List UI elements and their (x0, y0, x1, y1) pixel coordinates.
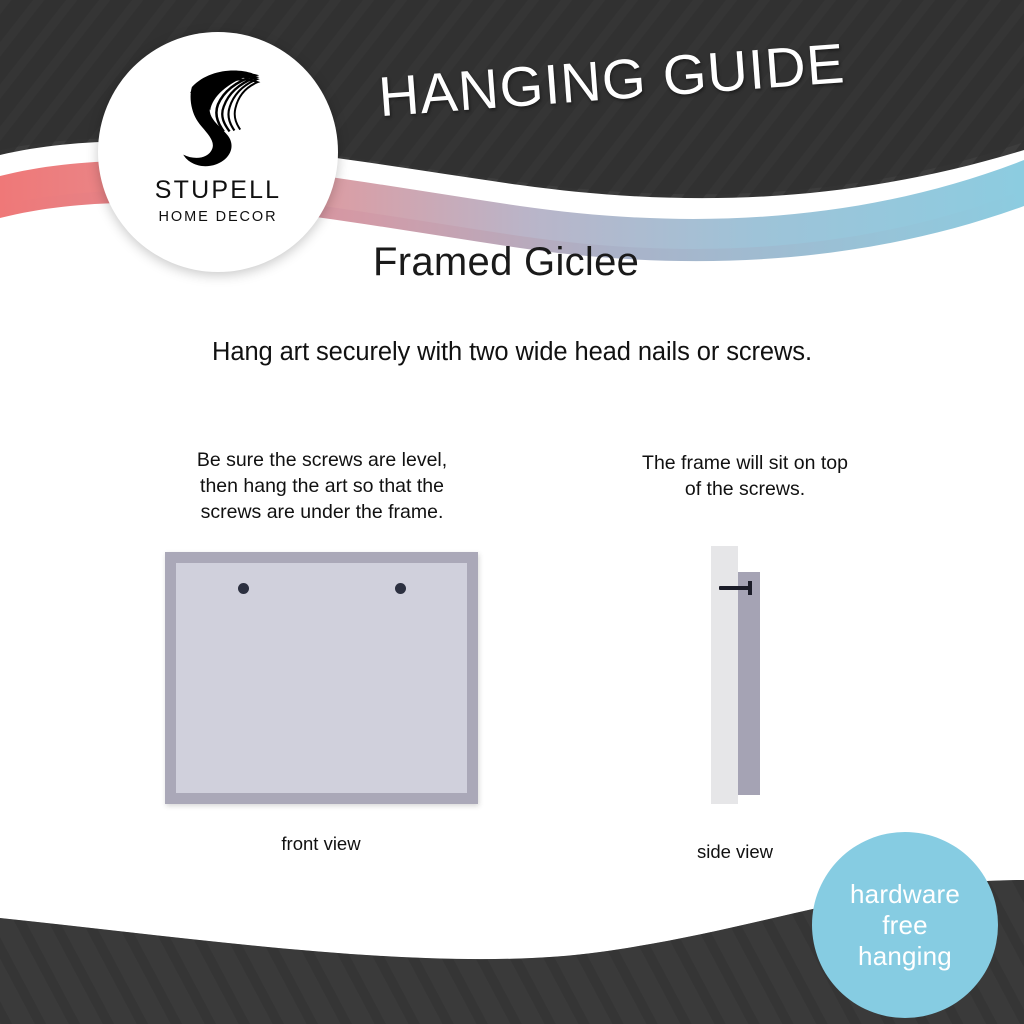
front-view-frame-diagram (165, 552, 478, 804)
front-view-label: front view (171, 833, 471, 855)
front-caption-line-3: screws are under the frame. (152, 499, 492, 525)
side-caption-line-2: of the screws. (595, 476, 895, 502)
side-view-caption: The frame will sit on top of the screws. (595, 450, 895, 502)
logo-brand-name: STUPELL (155, 178, 282, 203)
hanging-guide-infographic: HANGING GUIDE STUPELL HOME DECOR Framed … (0, 0, 1024, 1024)
hardware-free-hanging-badge: hardware free hanging (812, 832, 998, 1018)
badge-line-3: hanging (858, 941, 952, 972)
front-caption-line-2: then hang the art so that the (152, 473, 492, 499)
badge-line-1: hardware (850, 879, 960, 910)
logo-brand-subtitle: HOME DECOR (159, 210, 278, 225)
front-caption-line-1: Be sure the screws are level, (152, 447, 492, 473)
badge-line-2: free (882, 910, 928, 941)
side-caption-line-1: The frame will sit on top (595, 450, 895, 476)
lead-instruction-text: Hang art securely with two wide head nai… (0, 338, 1024, 367)
side-view-wall (711, 546, 738, 804)
stupell-swoosh-icon (160, 58, 276, 174)
screw-dot-right-icon (395, 583, 406, 594)
page-title: HANGING GUIDE (376, 28, 879, 129)
side-view-frame-slab (738, 572, 760, 795)
brand-logo-badge: STUPELL HOME DECOR (98, 32, 338, 272)
side-view-label: side view (635, 841, 835, 863)
screw-dot-left-icon (238, 583, 249, 594)
front-view-caption: Be sure the screws are level, then hang … (152, 447, 492, 525)
product-type-title: Framed Giclee (373, 240, 639, 285)
front-view-mat (176, 563, 467, 793)
nail-head-icon (748, 581, 752, 595)
